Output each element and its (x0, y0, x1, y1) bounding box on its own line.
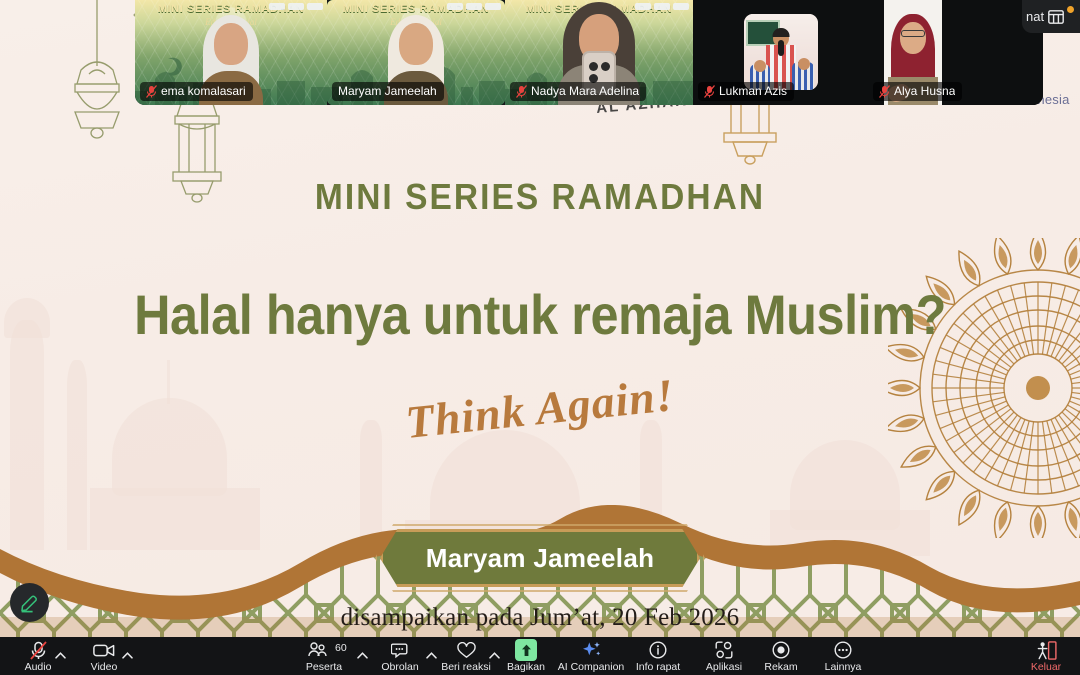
window-icon (1048, 10, 1064, 24)
video-tile-alya-husna[interactable]: Alya Husna (868, 0, 1043, 105)
slide-kicker: MINI SERIES RAMADHAN (38, 176, 1042, 218)
meeting-toolbar[interactable]: Audio Video Peserta 60 (0, 637, 1080, 675)
speaker-name-text: Maryam Jameelah (426, 543, 655, 574)
sparkle-icon (581, 641, 602, 659)
microphone-muted-icon (704, 85, 715, 98)
info-icon (649, 641, 667, 659)
participant-name: Nadya Mara Adelina (531, 84, 639, 98)
participant-count: 60 (335, 642, 347, 654)
participant-name: Lukman Azis (719, 84, 787, 98)
toolbar-label: Info rapat (636, 661, 680, 673)
video-tile-lukman-azis[interactable]: Lukman Azis (693, 0, 868, 105)
microphone-muted-icon (879, 85, 890, 98)
zoom-meeting-window: MINI SERIES RAMADHAN Halal hanya untuk r… (0, 0, 1080, 675)
slide-date-line: disampaikan pada Jum’at, 20 Feb 2026 (0, 604, 1080, 632)
participant-name: ema komalasari (161, 84, 246, 98)
apps-icon (715, 641, 733, 659)
chat-bubble-icon (391, 641, 410, 659)
video-tile-maryam-jameelah[interactable]: MINI SERIES RAMADHAN Edukasi Halal Marya… (327, 0, 505, 105)
people-icon (308, 641, 327, 659)
toolbar-label: Bagikan (507, 661, 545, 673)
ellipsis-icon (834, 641, 852, 659)
toolbar-label: Lainnya (825, 661, 862, 673)
toolbar-label: Obrolan (381, 661, 418, 673)
microphone-muted-icon (516, 85, 527, 98)
microphone-muted-icon (30, 641, 47, 659)
toolbar-label: Audio (25, 661, 52, 673)
video-tile-nadya-mara-adelina[interactable]: MINI SERIES RAMADHAN Edukasi Halal (505, 0, 693, 105)
toolbar-button-more[interactable]: Lainnya (811, 641, 875, 673)
record-icon (772, 641, 790, 659)
toolbar-label: AI Companion (558, 661, 625, 673)
nameplate: Lukman Azis (698, 82, 794, 101)
chat-panel-label: nat (1026, 9, 1044, 24)
participants-options-caret[interactable] (356, 649, 368, 661)
toolbar-button-share-screen[interactable]: Bagikan (494, 641, 558, 673)
toolbar-label: Rekam (764, 661, 797, 673)
nameplate: Alya Husna (873, 82, 962, 101)
audio-options-caret[interactable] (54, 649, 66, 661)
annotate-button[interactable] (10, 583, 49, 622)
toolbar-button-ai-companion[interactable]: AI Companion (559, 641, 623, 673)
toolbar-button-meeting-info[interactable]: Info rapat (626, 641, 690, 673)
microphone-muted-icon (146, 85, 157, 98)
video-tile-ema-komalasari[interactable]: MINI SERIES RAMADHAN Edukasi Halal ema k… (135, 0, 327, 105)
toolbar-label: Video (91, 661, 118, 673)
toolbar-label: Beri reaksi (441, 661, 491, 673)
toolbar-label: Keluar (1031, 661, 1061, 673)
video-options-caret[interactable] (121, 649, 133, 661)
heart-icon (457, 641, 476, 659)
nameplate: ema komalasari (140, 82, 253, 101)
chat-notification-dot (1067, 6, 1074, 13)
share-screen-icon (515, 641, 537, 659)
participant-name: Alya Husna (894, 84, 955, 98)
toolbar-button-apps[interactable]: Aplikasi (692, 641, 756, 673)
slide-headline: Halal hanya untuk remaja Muslim? (54, 282, 1026, 347)
exit-door-icon (1035, 641, 1057, 659)
toolbar-label: Aplikasi (706, 661, 742, 673)
toolbar-label: Peserta (306, 661, 342, 673)
nameplate: Maryam Jameelah (332, 82, 444, 101)
pencil-icon (19, 592, 40, 613)
camera-icon (93, 641, 115, 659)
meeting-chat-panel-button[interactable]: nat (1022, 0, 1080, 33)
nameplate: Nadya Mara Adelina (510, 82, 646, 101)
toolbar-button-chat[interactable]: Obrolan (368, 641, 432, 673)
toolbar-button-leave[interactable]: Keluar (1014, 641, 1078, 673)
participant-video-strip[interactable]: MINI SERIES RAMADHAN Edukasi Halal ema k… (135, 0, 1043, 105)
toolbar-button-record[interactable]: Rekam (749, 641, 813, 673)
participant-name: Maryam Jameelah (338, 84, 437, 98)
speaker-name-banner: Maryam Jameelah (380, 529, 700, 587)
